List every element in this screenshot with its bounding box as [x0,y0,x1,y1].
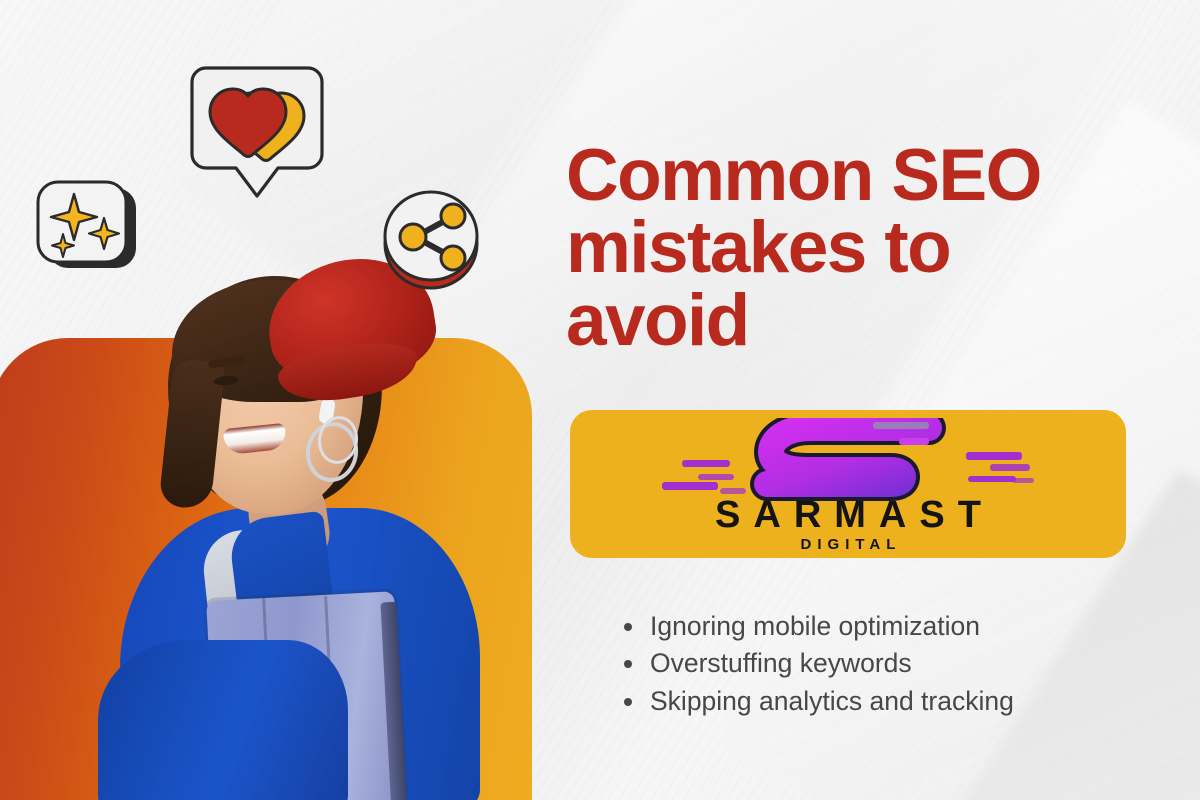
page-title: Common SEO mistakes to avoid [566,140,1186,357]
heart-reaction-bubble [186,62,328,204]
list-item: Overstuffing keywords [616,645,1156,682]
headline-line-3: avoid [566,285,1186,357]
speed-line [968,476,1016,482]
headline-line-2: mistakes to [566,212,1186,284]
poster-canvas: Common SEO mistakes to avoid [0,0,1200,800]
sparkles-icon [34,178,140,274]
speed-line [990,464,1030,471]
brand-s-mark-icon [723,418,973,502]
brand-tagline: DIGITAL [795,537,902,552]
share-coin [378,188,486,292]
share-icon [378,188,486,292]
headline-line-1: Common SEO [566,140,1186,212]
heart-icon [186,62,328,204]
list-item: Ignoring mobile optimization [616,608,1156,645]
blazer-sleeve [98,640,348,800]
mistakes-list: Ignoring mobile optimization Overstuffin… [616,608,1156,720]
brand-logo-banner: SARMAST DIGITAL [570,410,1126,558]
sparkle-card [34,178,140,274]
speed-line [1012,478,1034,483]
brand-mark-row [570,416,1126,500]
speed-line [662,482,718,490]
list-item: Skipping analytics and tracking [616,683,1156,720]
hero-portrait [0,240,540,800]
speed-line [966,452,1022,460]
